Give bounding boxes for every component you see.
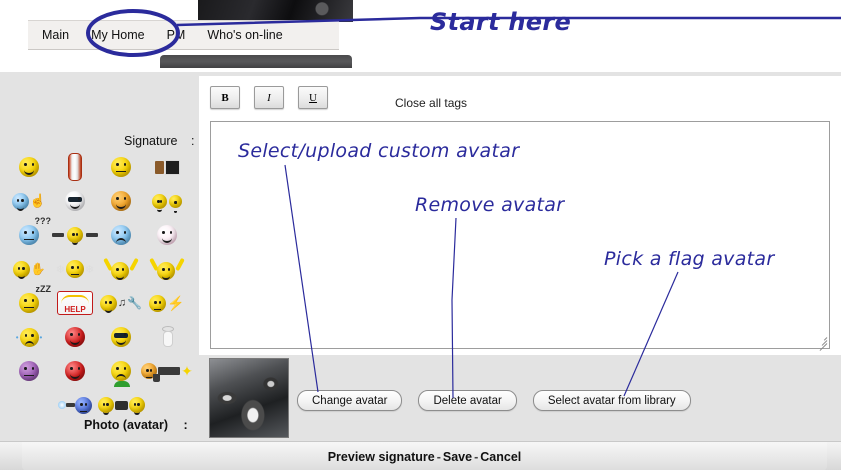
bold-button[interactable]: B	[210, 86, 240, 109]
emoticon-sleepy-wings[interactable]: ❄ ❄	[52, 252, 98, 286]
emoticon-thumbs-up[interactable]: ☝	[6, 184, 52, 218]
photo-avatar-label-text: Photo (avatar)	[84, 418, 168, 432]
footer-actions: Preview signature-Save-Cancel	[328, 450, 522, 464]
close-all-tags-link[interactable]: Close all tags	[395, 96, 467, 110]
emoticon-crying[interactable]: • •	[6, 320, 52, 354]
nav-tab-main[interactable]: Main	[28, 22, 80, 48]
footer-separator-1: -	[437, 450, 441, 464]
emoticon-plain[interactable]	[98, 150, 144, 184]
emoticon-wave[interactable]: ✋	[6, 252, 52, 286]
photo-avatar-label-colon: :	[184, 418, 188, 432]
emoticon-row: ☝	[6, 184, 192, 218]
nav-tab-pm[interactable]: PM	[156, 22, 197, 48]
emoticon-blank-1	[6, 388, 52, 422]
emoticon-cheer[interactable]	[144, 252, 190, 286]
emoticon-blank-2	[144, 388, 190, 422]
emoticon-grin[interactable]	[6, 150, 52, 184]
emoticon-row: zZZ HELP ♫ 🔧 ⚡	[6, 286, 192, 320]
emoticon-shock[interactable]: ⚡	[144, 286, 190, 320]
header-banner-image-secondary	[160, 55, 352, 68]
emoticon-confused[interactable]: ???	[6, 218, 52, 252]
italic-button[interactable]: I	[254, 86, 284, 109]
emoticon-angel[interactable]	[144, 320, 190, 354]
emoticon-sick[interactable]	[98, 354, 144, 388]
emoticon-row: ✋ ❄ ❄	[6, 252, 192, 286]
signature-textarea[interactable]	[210, 121, 830, 349]
main-navigation[interactable]: Main My Home PM Who's on-line	[28, 20, 339, 50]
emoticon-row: ???	[6, 218, 192, 252]
emoticon-help-sign[interactable]: HELP	[52, 286, 98, 320]
footer-bar: Preview signature-Save-Cancel	[0, 441, 841, 470]
cancel-link[interactable]: Cancel	[480, 450, 521, 464]
emoticon-purple[interactable]	[6, 354, 52, 388]
screenshot-root: Main My Home PM Who's on-line B I U Clos…	[0, 0, 841, 470]
header-banner-image	[198, 0, 353, 22]
emoticon-flex[interactable]	[98, 184, 144, 218]
emoticon-row	[6, 388, 192, 422]
save-link[interactable]: Save	[443, 450, 472, 464]
emoticon-horns[interactable]	[98, 252, 144, 286]
emoticon-monster[interactable]	[52, 354, 98, 388]
footer-separator-2: -	[474, 450, 478, 464]
delete-avatar-button[interactable]: Delete avatar	[418, 390, 516, 411]
nav-tab-my-home[interactable]: My Home	[80, 22, 155, 48]
signature-label-colon: :	[191, 134, 194, 148]
emoticon-handshake[interactable]	[98, 388, 144, 422]
format-toolbar: B I U	[210, 86, 328, 109]
emoticon-link-left[interactable]	[52, 218, 98, 252]
nav-tab-whos-online[interactable]: Who's on-line	[196, 22, 293, 48]
avatar-thumbnail	[209, 358, 289, 438]
emoticon-cry[interactable]	[98, 218, 144, 252]
emoticon-cool-shades[interactable]	[52, 184, 98, 218]
emoticon-gun[interactable]: ✦	[144, 354, 190, 388]
emoticon-palette[interactable]: ☝ ???	[6, 150, 192, 422]
emoticon-row: • •	[6, 320, 192, 354]
underline-button[interactable]: U	[298, 86, 328, 109]
emoticon-devil[interactable]	[52, 320, 98, 354]
select-avatar-from-library-button[interactable]: Select avatar from library	[533, 390, 691, 411]
emoticon-row	[6, 150, 192, 184]
emoticon-bomb[interactable]	[52, 388, 98, 422]
emoticon-row: ✦	[6, 354, 192, 388]
avatar-actions: Change avatar Delete avatar Select avata…	[297, 390, 691, 411]
site-header: Main My Home PM Who's on-line	[0, 0, 841, 72]
emoticon-sleeping[interactable]: zZZ	[6, 286, 52, 320]
signature-label-text: Signature	[124, 134, 178, 148]
resize-grip-icon[interactable]	[815, 334, 827, 346]
emoticon-two-faces[interactable]	[144, 184, 190, 218]
emoticon-music[interactable]: ♫ 🔧	[98, 286, 144, 320]
emoticon-laugh-pink[interactable]	[144, 218, 190, 252]
change-avatar-button[interactable]: Change avatar	[297, 390, 402, 411]
signature-label: Signature :	[124, 134, 194, 148]
emoticon-pill[interactable]	[52, 150, 98, 184]
photo-avatar-label: Photo (avatar) :	[84, 418, 188, 432]
emoticon-computer[interactable]	[144, 150, 190, 184]
emoticon-sunglasses[interactable]	[98, 320, 144, 354]
preview-signature-link[interactable]: Preview signature	[328, 450, 435, 464]
